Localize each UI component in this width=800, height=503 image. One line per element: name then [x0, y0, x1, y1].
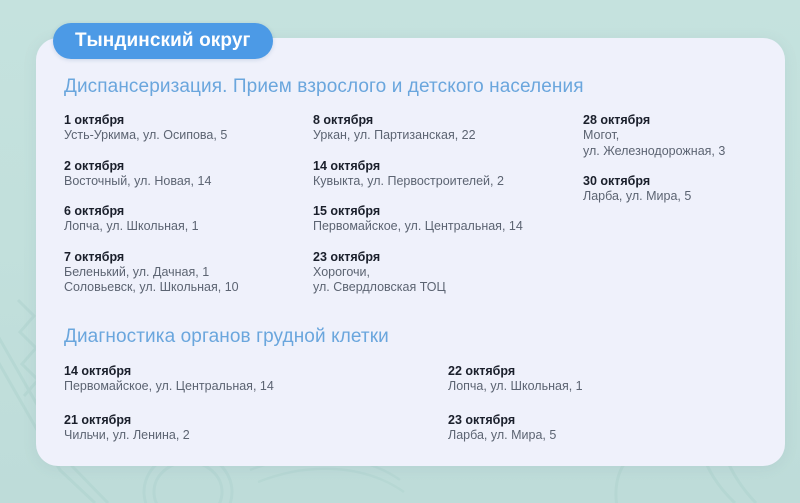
- schedule-entry: 1 октября Усть-Уркима, ул. Осипова, 5: [64, 112, 304, 144]
- entry-place: Кувыкта, ул. Первостроителей, 2: [313, 174, 568, 190]
- schedule-entry: 30 октября Ларба, ул. Мира, 5: [583, 173, 783, 205]
- section-title-chest-diagnostics: Диагностика органов грудной клетки: [64, 326, 389, 348]
- entry-place: ул. Свердловская ТОЦ: [313, 280, 568, 296]
- entry-date: 14 октября: [64, 363, 414, 379]
- section-title-checkup: Диспансеризация. Прием взрослого и детск…: [64, 76, 584, 98]
- entry-date: 28 октября: [583, 112, 783, 128]
- schedule-entry: 14 октября Первомайское, ул. Центральная…: [64, 363, 414, 395]
- schedule-content: Диспансеризация. Прием взрослого и детск…: [0, 0, 800, 503]
- entry-date: 21 октября: [64, 412, 414, 428]
- schedule-entry: 6 октября Лопча, ул. Школьная, 1: [64, 203, 304, 235]
- schedule-entry: 2 октября Восточный, ул. Новая, 14: [64, 158, 304, 190]
- entry-date: 6 октября: [64, 203, 304, 219]
- entry-place: Могот,: [583, 128, 783, 144]
- entry-place: Лопча, ул. Школьная, 1: [64, 219, 304, 235]
- region-badge: Тындинский округ: [53, 23, 273, 59]
- region-badge-label: Тындинский округ: [75, 30, 251, 52]
- entry-place: Первомайское, ул. Центральная, 14: [313, 219, 568, 235]
- entry-date: 23 октября: [448, 412, 748, 428]
- schedule-column: 14 октября Первомайское, ул. Центральная…: [64, 363, 414, 460]
- entry-place: Лопча, ул. Школьная, 1: [448, 379, 748, 395]
- entry-place: Ларба, ул. Мира, 5: [448, 428, 748, 444]
- entry-date: 22 октября: [448, 363, 748, 379]
- entry-place: Уркан, ул. Партизанская, 22: [313, 128, 568, 144]
- schedule-column: 22 октября Лопча, ул. Школьная, 1 23 окт…: [448, 363, 748, 460]
- schedule-entry: 22 октября Лопча, ул. Школьная, 1: [448, 363, 748, 395]
- entry-date: 15 октября: [313, 203, 568, 219]
- entry-date: 1 октября: [64, 112, 304, 128]
- schedule-entry: 23 октября Ларба, ул. Мира, 5: [448, 412, 748, 444]
- schedule-entry: 23 октября Хорогочи, ул. Свердловская ТО…: [313, 249, 568, 296]
- entry-date: 23 октября: [313, 249, 568, 265]
- entry-place: Чильчи, ул. Ленина, 2: [64, 428, 414, 444]
- entry-date: 2 октября: [64, 158, 304, 174]
- entry-place: Восточный, ул. Новая, 14: [64, 174, 304, 190]
- entry-date: 14 октября: [313, 158, 568, 174]
- schedule-entry: 15 октября Первомайское, ул. Центральная…: [313, 203, 568, 235]
- schedule-entry: 7 октября Беленький, ул. Дачная, 1 Солов…: [64, 249, 304, 296]
- schedule-entry: 21 октября Чильчи, ул. Ленина, 2: [64, 412, 414, 444]
- entry-place: Первомайское, ул. Центральная, 14: [64, 379, 414, 395]
- entry-place: ул. Железнодорожная, 3: [583, 144, 783, 160]
- entry-date: 30 октября: [583, 173, 783, 189]
- entry-place: Соловьевск, ул. Школьная, 10: [64, 280, 304, 296]
- entry-date: 8 октября: [313, 112, 568, 128]
- entry-place: Ларба, ул. Мира, 5: [583, 189, 783, 205]
- entry-place: Усть-Уркима, ул. Осипова, 5: [64, 128, 304, 144]
- schedule-entry: 28 октября Могот, ул. Железнодорожная, 3: [583, 112, 783, 159]
- schedule-column: 1 октября Усть-Уркима, ул. Осипова, 5 2 …: [64, 112, 304, 296]
- schedule-column: 8 октября Уркан, ул. Партизанская, 22 14…: [313, 112, 568, 296]
- entry-place: Хорогочи,: [313, 265, 568, 281]
- schedule-column: 28 октября Могот, ул. Железнодорожная, 3…: [583, 112, 783, 205]
- schedule-entry: 14 октября Кувыкта, ул. Первостроителей,…: [313, 158, 568, 190]
- entry-place: Беленький, ул. Дачная, 1: [64, 265, 304, 281]
- schedule-entry: 8 октября Уркан, ул. Партизанская, 22: [313, 112, 568, 144]
- entry-date: 7 октября: [64, 249, 304, 265]
